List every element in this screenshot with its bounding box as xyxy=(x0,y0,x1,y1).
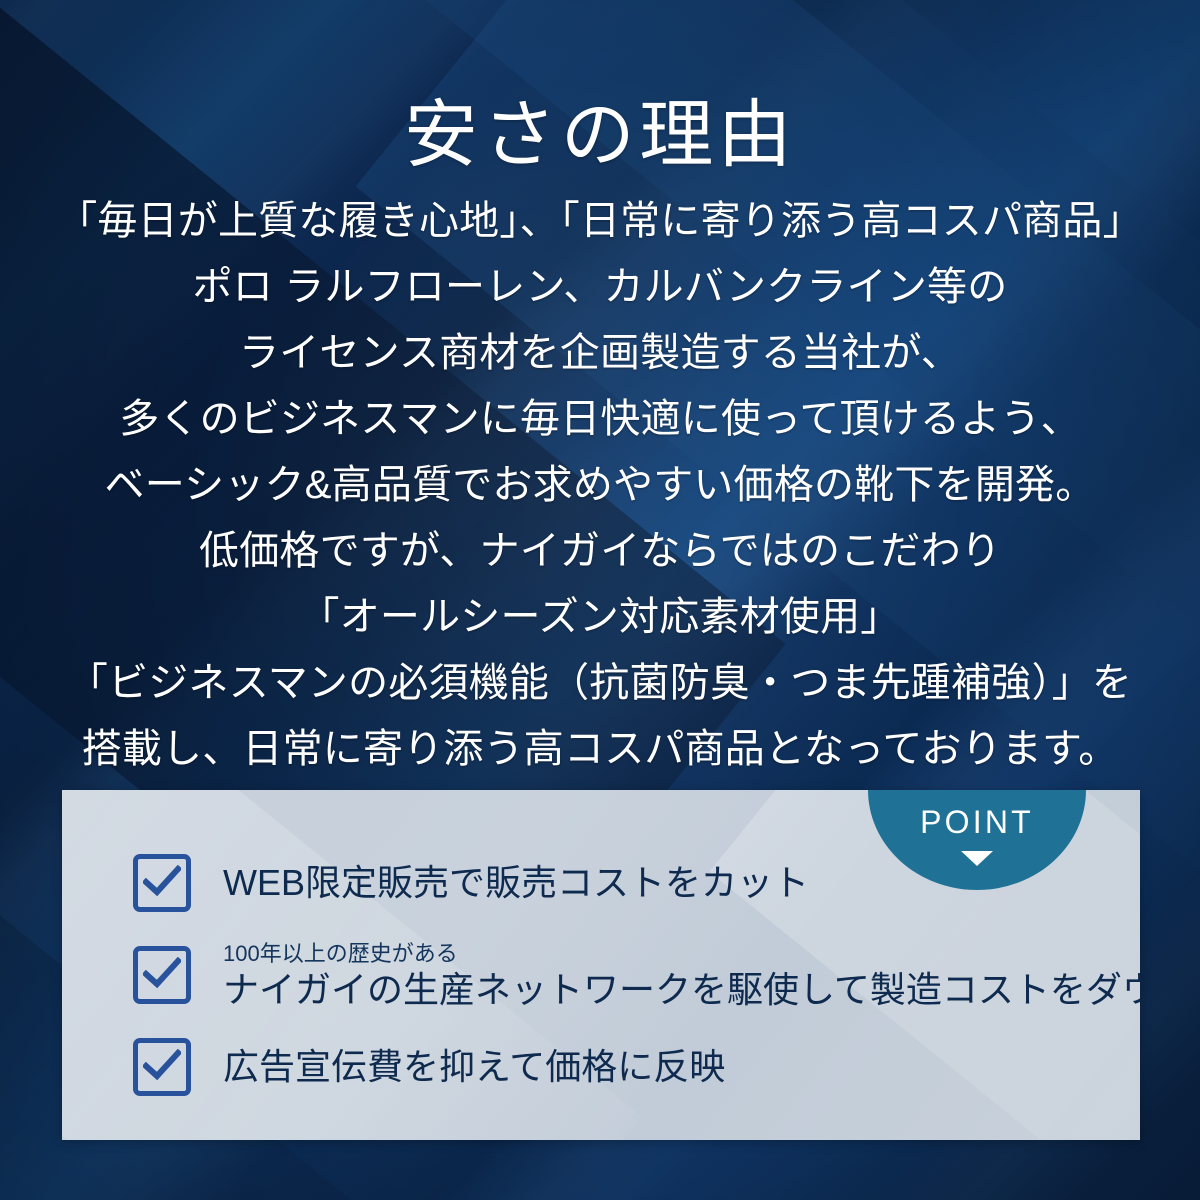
list-item-text-wrap: WEB限定販売で販売コストをカット xyxy=(223,862,809,903)
body-line-4: 多くのビジネスマンに毎日快適に使って頂けるよう、 xyxy=(0,386,1200,452)
list-item[interactable]: WEB限定販売で販売コストをカット xyxy=(133,843,1120,923)
page-title: 安さの理由 xyxy=(0,94,1200,175)
body-line-7: 「オールシーズン対応素材使用」 xyxy=(0,584,1200,650)
body-line-1: 「毎日が上質な履き心地」、「日常に寄り添う高コスパ商品」 xyxy=(0,188,1200,254)
list-item-label: WEB限定販売で販売コストをカット xyxy=(223,862,809,903)
body-line-9: 搭載し、日常に寄り添う高コスパ商品となっております。 xyxy=(0,716,1200,782)
list-item-label: ナイガイの生産ネットワークを駆使して製造コストをダウン xyxy=(223,969,1140,1010)
list-item[interactable]: 広告宣伝費を抑えて価格に反映 xyxy=(133,1027,1120,1107)
body-copy: 「毎日が上質な履き心地」、「日常に寄り添う高コスパ商品」 ポロ ラルフローレン、… xyxy=(0,188,1200,782)
promo-banner: 安さの理由 「毎日が上質な履き心地」、「日常に寄り添う高コスパ商品」 ポロ ラル… xyxy=(0,0,1200,1200)
list-item-label: 広告宣伝費を抑えて価格に反映 xyxy=(223,1046,725,1087)
checkbox-checked-icon[interactable] xyxy=(133,1038,191,1096)
points-list: WEB限定販売で販売コストをカット 100年以上の歴史がある ナイガイの生産ネッ… xyxy=(133,843,1120,1107)
list-item-text-wrap: 広告宣伝費を抑えて価格に反映 xyxy=(223,1046,725,1087)
points-card: POINT WEB限定販売で販売コストをカット xyxy=(62,790,1140,1140)
point-badge-label: POINT xyxy=(868,790,1086,838)
body-line-8: 「ビジネスマンの必須機能（抗菌防臭・つま先踵補強）」を xyxy=(0,650,1200,716)
checkbox-checked-icon[interactable] xyxy=(133,854,191,912)
list-item-kicker: 100年以上の歴史がある xyxy=(223,940,1140,968)
body-line-2: ポロ ラルフローレン、カルバンクライン等の xyxy=(0,254,1200,320)
checkbox-checked-icon[interactable] xyxy=(133,946,191,1004)
list-item-text-wrap: 100年以上の歴史がある ナイガイの生産ネットワークを駆使して製造コストをダウン xyxy=(223,940,1140,1010)
body-line-6: 低価格ですが、ナイガイならではのこだわり xyxy=(0,518,1200,584)
body-line-3: ライセンス商材を企画製造する当社が、 xyxy=(0,320,1200,386)
body-line-5: ベーシック&高品質でお求めやすい価格の靴下を開発。 xyxy=(0,452,1200,518)
list-item[interactable]: 100年以上の歴史がある ナイガイの生産ネットワークを駆使して製造コストをダウン xyxy=(133,935,1120,1015)
